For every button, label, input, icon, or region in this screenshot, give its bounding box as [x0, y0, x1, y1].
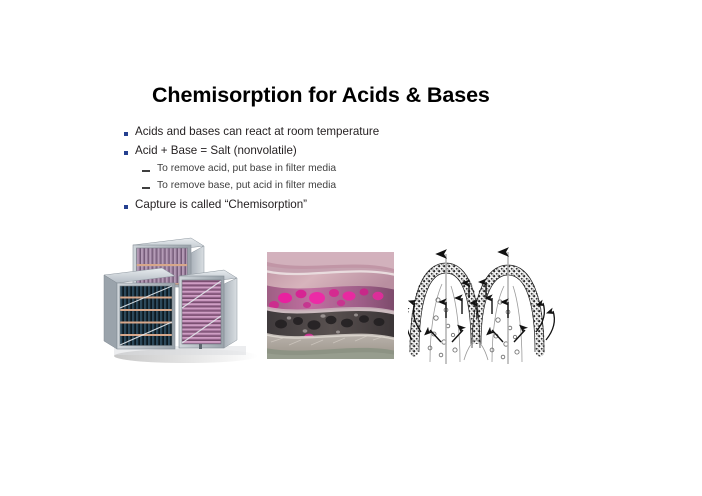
list-item: Acids and bases can react at room temper… — [124, 126, 544, 138]
sub-list-item-label: To remove base, put acid in filter media — [157, 181, 336, 191]
sub-list-item-label: To remove acid, put base in filter media — [157, 164, 336, 174]
dash-bullet-icon — [142, 170, 150, 171]
square-bullet-icon — [124, 132, 128, 136]
square-bullet-icon — [124, 151, 128, 155]
figure-strip — [0, 0, 702, 496]
bullet-list: Acids and bases can react at room temper… — [124, 126, 544, 218]
sub-list-item: To remove acid, put base in filter media — [124, 164, 544, 174]
square-bullet-icon — [124, 205, 128, 209]
slide-canvas: Chemisorption for Acids & Bases Acids an… — [0, 0, 702, 496]
list-item: Acid + Base = Salt (nonvolatile) — [124, 145, 544, 157]
list-item-label: Capture is called “Chemisorption” — [135, 199, 307, 211]
page-title: Chemisorption for Acids & Bases — [152, 83, 572, 108]
list-item-label: Acid + Base = Salt (nonvolatile) — [135, 145, 297, 157]
pleat-airflow-schematic — [408, 240, 570, 365]
list-item: Capture is called “Chemisorption” — [124, 199, 544, 211]
filter-cassettes-photo — [100, 236, 262, 370]
dash-bullet-icon — [142, 187, 150, 188]
chemisorption-media-photo — [267, 252, 394, 359]
list-item-label: Acids and bases can react at room temper… — [135, 126, 379, 138]
sub-list-item: To remove base, put acid in filter media — [124, 181, 544, 191]
cassette-right-pink — [179, 270, 237, 349]
